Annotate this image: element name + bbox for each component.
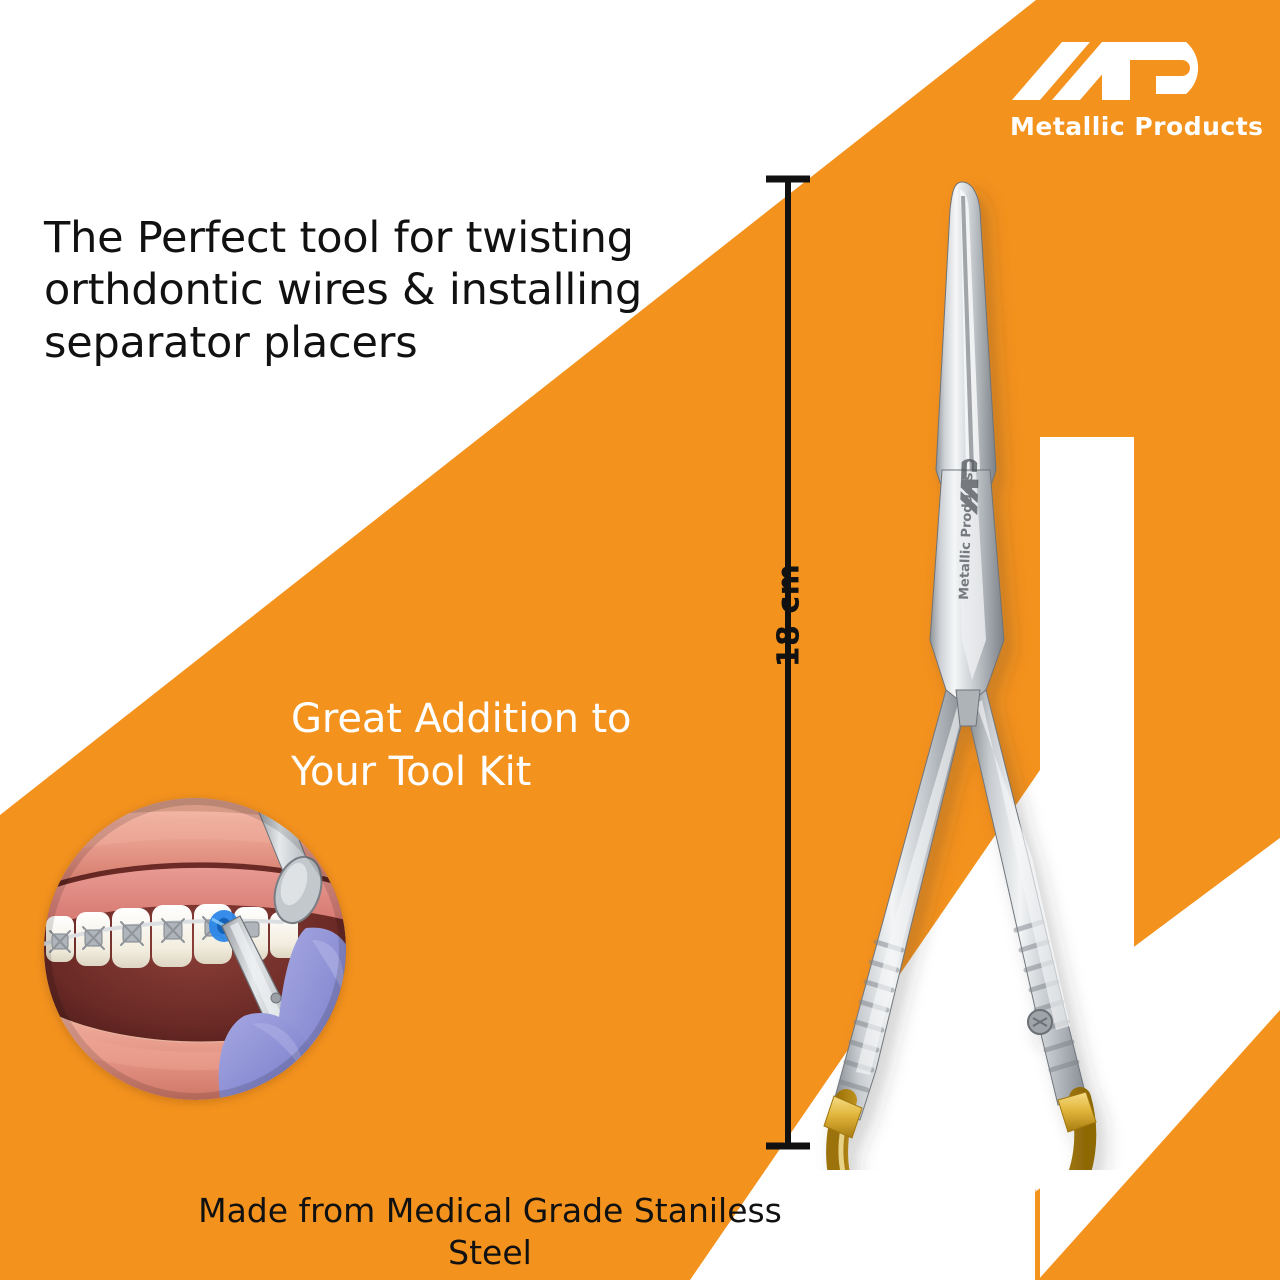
brand-logo: Metallic Products bbox=[1010, 36, 1226, 140]
gold-ring-highlight bbox=[841, 1108, 1058, 1170]
left-leg-highlight bbox=[856, 704, 964, 1075]
hinge-joint bbox=[956, 690, 980, 726]
product-marketing-poster: Metallic Products The Perfect tool for t… bbox=[0, 0, 1280, 1280]
footer-caption-text: Made from Medical Grade Staniless Steel bbox=[180, 1190, 800, 1273]
gold-handle-ring bbox=[837, 1098, 1085, 1170]
tagline-text: Great Addition to Your Tool Kit bbox=[291, 693, 711, 799]
instrument-body: Metallic Products bbox=[824, 182, 1096, 1170]
headline-text: The Perfect tool for twisting orthdontic… bbox=[44, 212, 664, 369]
clinical-photo-content bbox=[44, 798, 346, 1100]
brand-name-text: Metallic Products bbox=[1010, 114, 1226, 140]
clinical-photo-braces bbox=[44, 798, 346, 1100]
mp-monogram-icon bbox=[1010, 36, 1226, 108]
instrument-pivot-icon bbox=[271, 993, 281, 1003]
product-image-needle-holder: Metallic Products bbox=[790, 170, 1140, 1170]
